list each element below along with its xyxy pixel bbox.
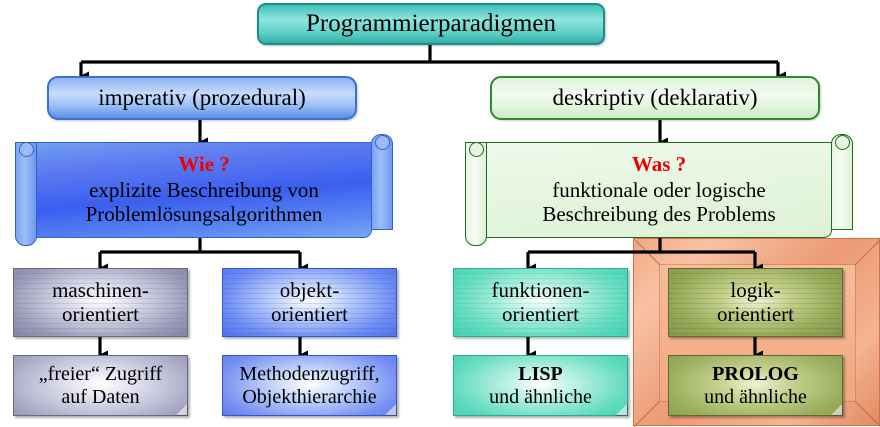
- folded-corner-icon: [384, 403, 397, 416]
- leaf-lisp-name: LISP: [518, 363, 562, 386]
- scroll-wie-question: Wie ?: [178, 153, 230, 177]
- node-logic-oriented-line1: logik-: [730, 279, 780, 303]
- leaf-prolog[interactable]: PROLOG und ähnliche: [668, 355, 843, 416]
- leaf-free-data-access-line2: auf Daten: [61, 386, 139, 409]
- title-box[interactable]: Programmierparadigmen: [257, 3, 605, 45]
- node-function-oriented[interactable]: funktionen- orientiert: [453, 268, 628, 337]
- node-descriptive[interactable]: deskriptiv (deklarativ): [490, 76, 820, 120]
- scroll-wie-body: Wie ? explizite Beschreibung von Problem…: [36, 142, 372, 238]
- node-imperative[interactable]: imperativ (prozedural): [47, 76, 357, 120]
- node-object-oriented-line1: objekt-: [280, 279, 339, 303]
- leaf-prolog-name: PROLOG: [712, 363, 799, 386]
- scroll-curl-left-eye: [19, 142, 34, 157]
- node-descriptive-label: deskriptiv (deklarativ): [552, 85, 757, 111]
- leaf-prolog-sub: und ähnliche: [704, 386, 807, 409]
- diagram-canvas: Programmierparadigmen imperativ (prozedu…: [0, 0, 880, 426]
- folded-corner-icon: [175, 403, 188, 416]
- node-function-oriented-line1: funktionen-: [492, 279, 590, 303]
- scroll-was-question: Was ?: [632, 153, 686, 177]
- scroll-wie-line2: Problemlösungsalgorithmen: [86, 203, 323, 227]
- leaf-free-data-access[interactable]: „freier“ Zugriff auf Daten: [13, 355, 188, 416]
- scroll-was-body: Was ? funktionale oder logische Beschrei…: [486, 142, 832, 238]
- scroll-was-curl-left-eye: [469, 142, 484, 157]
- node-machine-oriented[interactable]: maschinen- orientiert: [13, 268, 188, 337]
- leaf-lisp-sub: und ähnliche: [489, 386, 592, 409]
- node-imperative-label: imperativ (prozedural): [98, 85, 306, 111]
- folded-corner-icon: [830, 403, 843, 416]
- scroll-curl-left: [15, 142, 37, 246]
- node-object-oriented-line2: orientiert: [271, 303, 348, 327]
- scroll-was[interactable]: Was ? funktionale oder logische Beschrei…: [464, 134, 854, 246]
- node-logic-oriented-line2: orientiert: [717, 303, 794, 327]
- scroll-was-line2: Beschreibung des Problems: [542, 203, 775, 227]
- node-function-oriented-line2: orientiert: [502, 303, 579, 327]
- scroll-wie-line1: explizite Beschreibung von: [89, 179, 319, 203]
- leaf-lisp[interactable]: LISP und ähnliche: [453, 355, 628, 416]
- node-machine-oriented-line2: orientiert: [62, 303, 139, 327]
- node-logic-oriented[interactable]: logik- orientiert: [668, 268, 843, 337]
- scroll-was-curl-left: [465, 142, 487, 246]
- node-object-oriented[interactable]: objekt- orientiert: [222, 268, 397, 337]
- folded-corner-icon: [615, 403, 628, 416]
- leaf-method-access[interactable]: Methodenzugriff, Objekthierarchie: [222, 355, 397, 416]
- scroll-was-line1: funktionale oder logische: [552, 179, 765, 203]
- leaf-method-access-line2: Objekthierarchie: [242, 386, 376, 409]
- scroll-was-curl-right-eye: [835, 135, 850, 150]
- node-machine-oriented-line1: maschinen-: [52, 279, 149, 303]
- scroll-curl-right-eye: [375, 135, 390, 150]
- title-label: Programmierparadigmen: [306, 10, 556, 38]
- leaf-free-data-access-line1: „freier“ Zugriff: [39, 363, 162, 386]
- leaf-method-access-line1: Methodenzugriff,: [239, 363, 379, 386]
- scroll-wie[interactable]: Wie ? explizite Beschreibung von Problem…: [14, 134, 394, 246]
